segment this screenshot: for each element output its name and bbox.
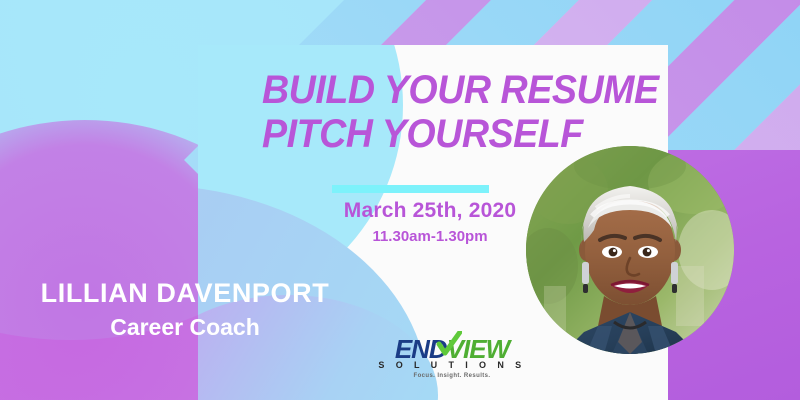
endview-solutions-logo: ENDVIEW S O L U T I O N S Focus. Insight… bbox=[376, 336, 528, 381]
logo-tagline: Focus. Insight. Results. bbox=[376, 372, 528, 381]
headline: BUILD YOUR RESUME PITCH YOURSELF bbox=[262, 68, 622, 156]
checkmark-icon bbox=[436, 331, 462, 357]
event-date: March 25th, 2020 bbox=[330, 198, 530, 224]
speaker-portrait bbox=[526, 146, 734, 354]
event-banner: BUILD YOUR RESUME PITCH YOURSELF March 2… bbox=[0, 0, 800, 400]
event-time: 11.30am-1.30pm bbox=[330, 226, 530, 248]
divider-rule bbox=[332, 185, 489, 193]
headline-line-1: BUILD YOUR RESUME bbox=[262, 68, 600, 112]
speaker-block: LILLIAN DAVENPORT Career Coach bbox=[20, 276, 350, 343]
event-date-block: March 25th, 2020 11.30am-1.30pm bbox=[330, 198, 530, 248]
speaker-name: LILLIAN DAVENPORT bbox=[20, 276, 350, 310]
speaker-role: Career Coach bbox=[20, 311, 350, 343]
logo-wordmark: ENDVIEW bbox=[376, 336, 528, 362]
headline-line-2: PITCH YOURSELF bbox=[262, 112, 600, 156]
